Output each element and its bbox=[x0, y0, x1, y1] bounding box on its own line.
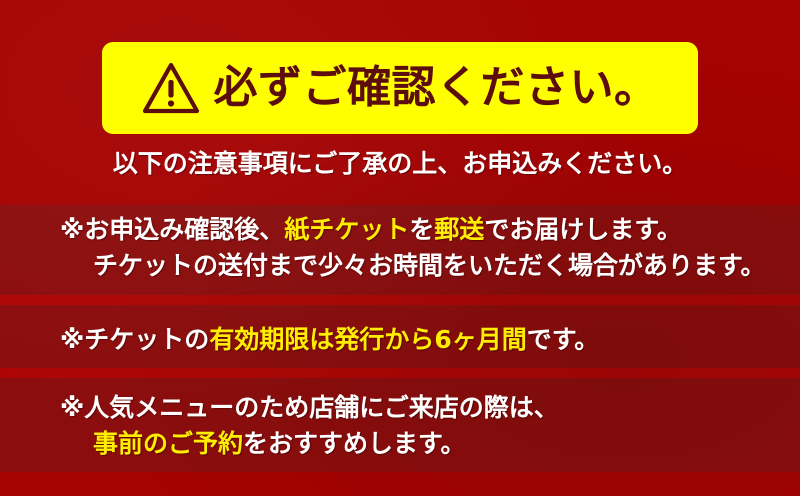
note-line: チケットの送付まで少々お時間をいただく場合があります。 bbox=[60, 248, 800, 284]
note-highlight-text: 郵送 bbox=[434, 215, 484, 244]
headline-box: 必ずご確認ください。 bbox=[102, 42, 698, 134]
lead-text: 以下の注意事項にご了承の上、お申込みください。 bbox=[0, 148, 800, 179]
note-highlight-text: 有効期限は発行から6ヶ月間 bbox=[209, 325, 526, 354]
note-text: ※お申込み確認後、 bbox=[60, 215, 284, 244]
note-line: ※人気メニューのため店舗にご来店の際は、 bbox=[60, 390, 800, 426]
note-line: ※お申込み確認後、紙チケットを郵送でお届けします。 bbox=[60, 212, 800, 248]
note-highlight-text: 事前のご予約 bbox=[93, 429, 243, 458]
note-text: でお届けします。 bbox=[484, 215, 682, 244]
headline-text: 必ずご確認ください。 bbox=[214, 66, 659, 110]
note-line: ※チケットの有効期限は発行から6ヶ月間です。 bbox=[60, 322, 800, 358]
note-text: チケットの送付まで少々お時間をいただく場合があります。 bbox=[93, 251, 766, 280]
note-text: ※人気メニューのため店舗にご来店の際は、 bbox=[60, 393, 559, 422]
note-text: をおすすめします。 bbox=[243, 429, 466, 458]
note-text: を bbox=[409, 215, 434, 244]
banner-content: 必ずご確認ください。 以下の注意事項にご了承の上、お申込みください。 ※お申込み… bbox=[0, 0, 800, 496]
note-text: ※チケットの bbox=[60, 325, 209, 354]
note-block-3: ※人気メニューのため店舗にご来店の際は、事前のご予約をおすすめします。 bbox=[60, 390, 800, 461]
warning-triangle-icon bbox=[142, 61, 200, 115]
note-block-2: ※チケットの有効期限は発行から6ヶ月間です。 bbox=[60, 322, 800, 358]
note-text: です。 bbox=[527, 325, 600, 354]
notice-banner: 必ずご確認ください。 以下の注意事項にご了承の上、お申込みください。 ※お申込み… bbox=[0, 0, 800, 496]
note-block-1: ※お申込み確認後、紙チケットを郵送でお届けします。チケットの送付まで少々お時間を… bbox=[60, 212, 800, 283]
note-line: 事前のご予約をおすすめします。 bbox=[60, 426, 800, 462]
note-highlight-text: 紙チケット bbox=[284, 215, 409, 244]
